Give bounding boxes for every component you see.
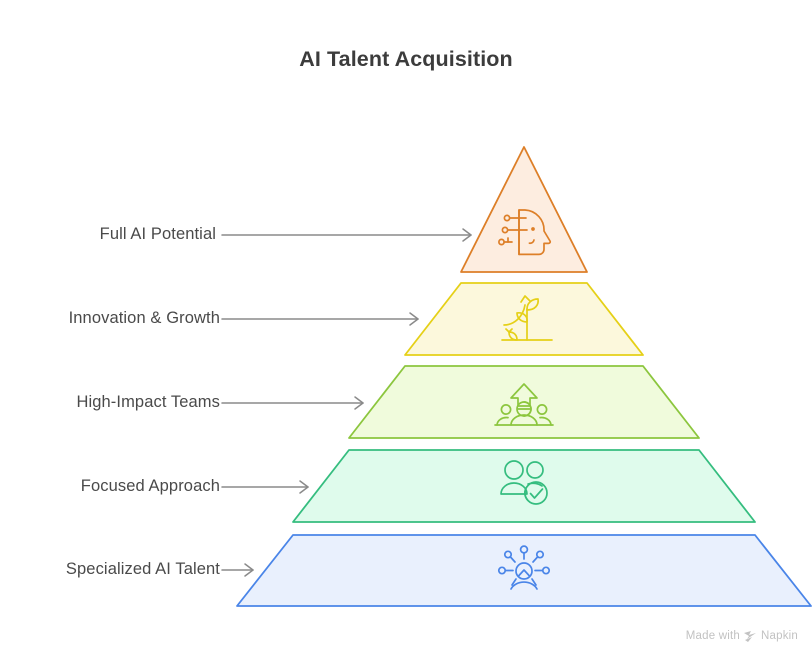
tier-label-high-impact-teams: High-Impact Teams bbox=[76, 393, 220, 412]
connector-arrow-focused-approach bbox=[222, 481, 308, 493]
watermark-brand: Napkin bbox=[761, 630, 798, 642]
pyramid-tier-full-ai-potential[interactable] bbox=[461, 147, 587, 272]
connector-arrow-full-ai-potential bbox=[222, 229, 471, 241]
watermark-prefix: Made with bbox=[686, 630, 740, 642]
tier-label-full-ai-potential: Full AI Potential bbox=[100, 225, 216, 244]
tier-shape-trapezoid[interactable] bbox=[405, 283, 643, 355]
tier-label-innovation-growth: Innovation & Growth bbox=[69, 309, 220, 328]
connector-arrow-high-impact-teams bbox=[222, 397, 363, 409]
diagram-canvas: AI Talent Acquisition bbox=[0, 0, 812, 654]
connector-arrow-innovation-growth bbox=[222, 313, 418, 325]
pyramid-tier-high-impact-teams[interactable] bbox=[349, 366, 699, 438]
tier-label-specialized-ai-talent: Specialized AI Talent bbox=[66, 560, 220, 579]
connector-arrow-specialized-ai-talent bbox=[222, 564, 253, 576]
pyramid-tier-innovation-growth[interactable] bbox=[405, 283, 643, 355]
napkin-logo-icon bbox=[744, 631, 757, 642]
tier-label-focused-approach: Focused Approach bbox=[81, 477, 220, 496]
pyramid-tier-focused-approach[interactable] bbox=[293, 450, 755, 522]
pyramid-tier-specialized-ai-talent[interactable] bbox=[237, 535, 811, 606]
napkin-watermark: Made with Napkin bbox=[686, 630, 798, 642]
